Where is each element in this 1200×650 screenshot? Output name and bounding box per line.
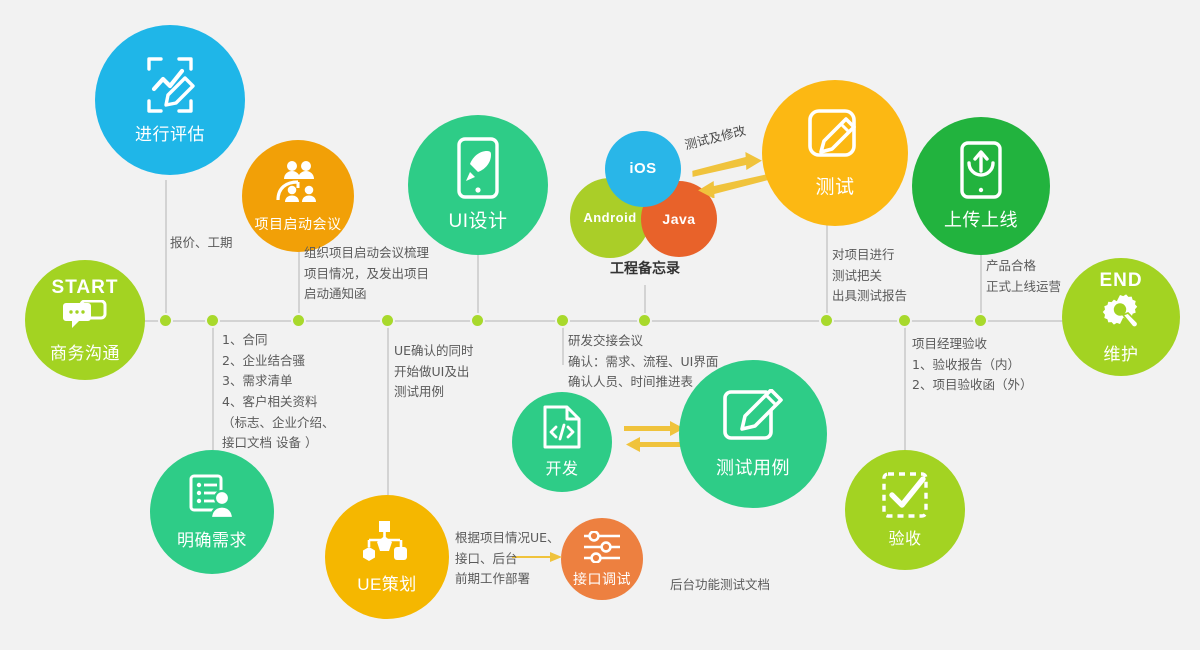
stem-ue-planning (387, 320, 389, 495)
stem-upload (980, 255, 982, 320)
node-ui-design-label: UI设计 (448, 211, 507, 233)
node-ui-design[interactable]: UI设计 (408, 115, 548, 255)
stem-assessment (165, 180, 167, 320)
meeting-people-icon (274, 160, 322, 209)
timeline-dot-techstack (639, 315, 650, 326)
node-assessment-label: 进行评估 (135, 125, 205, 145)
gear-wrench-icon (1099, 293, 1143, 338)
node-requirements-label: 明确需求 (177, 531, 247, 551)
code-file-icon (542, 405, 582, 454)
stem-acceptance (904, 320, 906, 450)
stem-requirements (212, 320, 214, 450)
test-loop-label: 测试及修改 (682, 121, 748, 156)
node-start-top-label: START (52, 277, 119, 299)
node-tech-android-label: Android (583, 211, 636, 226)
stem-ui-design (477, 255, 479, 320)
dashed-checkmark-icon (881, 471, 929, 524)
node-requirements[interactable]: 明确需求 (150, 450, 274, 574)
node-acceptance-label: 验收 (888, 531, 921, 549)
caption-quote-schedule: 报价、工期 (170, 233, 233, 254)
caption-handover-detail: 研发交接会议 确认：需求、流程、UI界面 确认人员、时间推进表 (568, 331, 718, 393)
node-api-debug[interactable]: 接口调试 (561, 518, 643, 600)
sliders-icon (582, 531, 622, 568)
timeline-dot-handover (557, 315, 568, 326)
node-acceptance[interactable]: 验收 (845, 450, 965, 570)
notepad-pencil-icon (806, 107, 864, 170)
caption-pm-acceptance: 项目经理验收 1、验收报告（内） 2、项目验收函（外） (912, 334, 1032, 396)
node-development-label: 开发 (545, 461, 578, 479)
node-api-debug-label: 接口调试 (573, 571, 631, 587)
node-start[interactable]: START 商务沟通 (25, 260, 145, 380)
timeline-dot-acceptance (899, 315, 910, 326)
node-kickoff-label: 项目启动会议 (255, 216, 342, 232)
node-kickoff[interactable]: 项目启动会议 (242, 140, 354, 252)
phone-upload-arrow-icon (959, 141, 1003, 204)
node-end-top-label: END (1099, 270, 1142, 292)
timeline-dot-requirements (207, 315, 218, 326)
stem-handover (562, 320, 564, 365)
caption-ue-ui-detail: UE确认的同时 开始做UI及出 测试用例 (394, 341, 474, 403)
dev-testcase-arrows (624, 420, 686, 457)
tech-stack-caption: 工程备忘录 (585, 258, 705, 281)
node-tech-ios-label: iOS (629, 160, 656, 177)
node-end-label: 维护 (1104, 345, 1139, 365)
checklist-person-icon (187, 474, 237, 525)
node-upload[interactable]: 上传上线 (912, 117, 1050, 255)
document-chart-pencil-icon (141, 56, 199, 119)
sitemap-nodes-icon (361, 520, 413, 569)
stem-kickoff (298, 240, 300, 320)
timeline-dot-testing (821, 315, 832, 326)
timeline-dot-ui (472, 315, 483, 326)
caption-backend-doc: 后台功能测试文档 (670, 575, 770, 596)
node-test-case-label: 测试用例 (716, 458, 790, 479)
node-assessment[interactable]: 进行评估 (95, 25, 245, 175)
phone-rocket-icon (455, 137, 501, 204)
node-testing[interactable]: 测试 (762, 80, 908, 226)
caption-product-launch: 产品合格 正式上线运营 (986, 256, 1061, 297)
caption-testing-detail: 对项目进行 测试把关 出具测试报告 (832, 245, 907, 307)
workflow-diagram: START 商务沟通 进行评估 (0, 0, 1200, 650)
node-end[interactable]: END 维护 (1062, 258, 1180, 376)
caption-ue-deploy-detail: 根据项目情况UE、 接口、后台 前期工作部署 (455, 528, 560, 590)
node-tech-java-label: Java (662, 211, 695, 227)
caption-kickoff-detail: 组织项目启动会议梳理 项目情况，及发出项目 启动通知函 (304, 243, 429, 305)
timeline-dot-assessment (160, 315, 171, 326)
node-tech-ios[interactable]: iOS (605, 131, 681, 207)
node-start-label: 商务沟通 (50, 344, 120, 364)
chat-bubbles-icon (63, 300, 107, 337)
timeline-dot-kickoff (293, 315, 304, 326)
node-ue-planning-label: UE策划 (357, 575, 417, 595)
edit-square-pencil-icon (722, 389, 784, 452)
test-loop-arrows (690, 152, 770, 203)
caption-contract-list: 1、合同 2、企业结合骚 3、需求清单 4、客户相关资料 （标志、企业介绍、 接… (222, 330, 335, 454)
stem-testing (826, 225, 828, 320)
node-development[interactable]: 开发 (512, 392, 612, 492)
timeline-main-line (140, 320, 1070, 322)
node-ue-planning[interactable]: UE策划 (325, 495, 449, 619)
node-upload-label: 上传上线 (944, 210, 1018, 231)
timeline-dot-upload (975, 315, 986, 326)
timeline-dot-ue (382, 315, 393, 326)
node-testing-label: 测试 (815, 177, 854, 199)
